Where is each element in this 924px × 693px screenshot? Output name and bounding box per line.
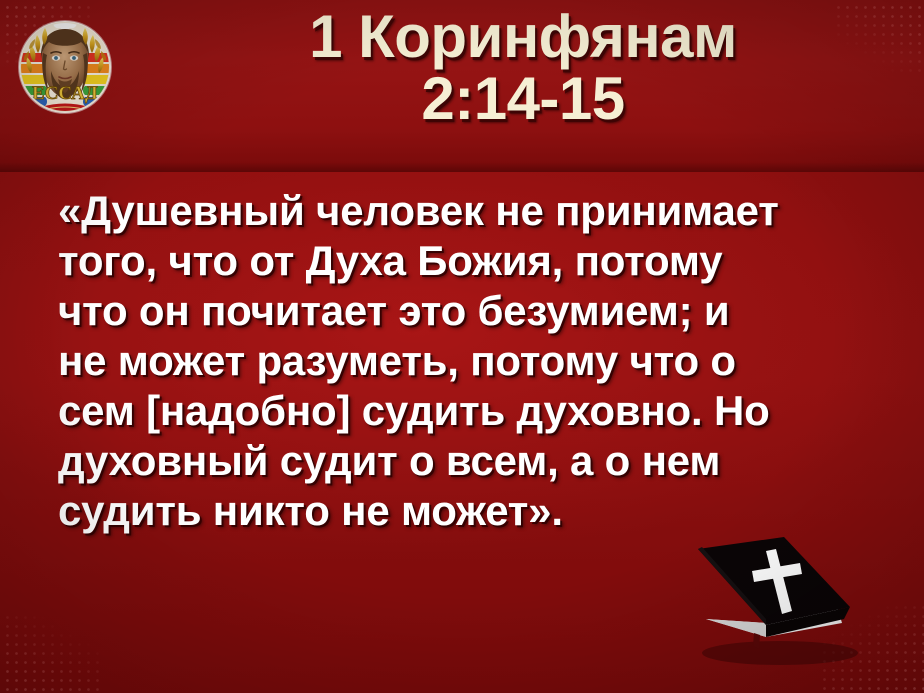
bible-verse-slide: ЕССАД 1 Коринфянам 2:14-15 «Душевный чел… [0,0,924,693]
emblem-inscription: ЕССАД [32,83,98,104]
verse-line: того, что от Духа Божия, потому [58,236,878,286]
bible-book-with-cross-icon [662,527,894,677]
slide-title-line-1: 1 Коринфянам [128,6,918,68]
verse-line: «Душевный человек не принимает [58,186,878,236]
verse-text: «Душевный человек не принимает того, что… [58,186,878,536]
slide-title-line-2: 2:14-15 [128,68,918,130]
slide-title: 1 Коринфянам 2:14-15 [128,6,918,131]
verse-line: духовный судит о всем, а о нем [58,436,878,486]
verse-line: что он почитает это безумием; и [58,286,878,336]
verse-line: сем [надобно] судить духовно. Но [58,386,878,436]
verse-line: не может разуметь, потому что о [58,336,878,386]
jesus-wreath-emblem-icon: ЕССАД [11,9,119,127]
